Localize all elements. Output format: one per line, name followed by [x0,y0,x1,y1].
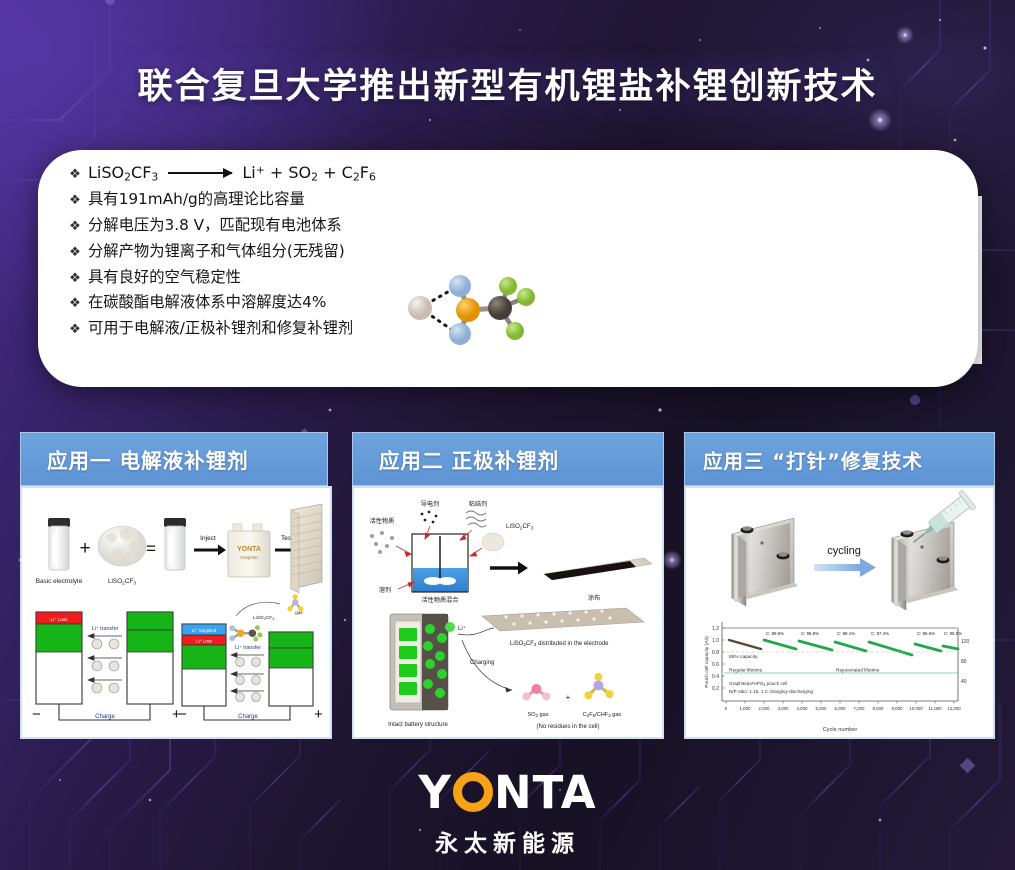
svg-text:6,000: 6,000 [835,706,847,711]
svg-text:+: + [314,706,323,723]
svg-text:活性物质混合: 活性物质混合 [421,596,458,604]
svg-text:2,000: 2,000 [759,706,771,711]
svg-text:N/P ratio: 1.15, 1 C charging–: N/P ratio: 1.15, 1 C charging–dischargin… [729,689,813,694]
atom-s [456,298,480,322]
list-item-label: 可用于电解液/正极补锂剂和修复补锂剂 [88,319,353,338]
list-item: ❖ 分解产物为锂离子和气体组分(无残留) [62,242,442,261]
mixing-beaker [412,534,468,592]
svg-text:C: 96.6%: C: 96.6% [917,631,935,636]
page-title: 联合复旦大学推出新型有机锂盐补锂创新技术 [137,58,877,109]
list-item: ❖ 在碳酸酯电解液体系中溶解度达4% [62,293,442,312]
vial-mixed-electrolyte [164,518,186,570]
svg-text:LiSO2CF3: LiSO2CF3 [253,615,274,621]
coated-electrode [544,558,652,580]
title-container: 联合复旦大学推出新型有机锂盐补锂创新技术 [0,58,1015,109]
test-rack [291,504,322,593]
svg-text:cycling: cycling [827,545,861,557]
svg-text:Pouch cell capacity (Ah): Pouch cell capacity (Ah) [704,636,710,688]
list-item-equation: ❖ LiSO2CF3 Li+ + SO2 + C2F6 [62,163,442,184]
svg-text:=: = [146,539,156,558]
svg-text:Li⁺ transfer: Li⁺ transfer [92,626,119,632]
panel-1-header: 应用一 电解液补锂剂 [20,432,328,486]
svg-text:C: 96.0%: C: 96.0% [944,631,962,636]
svg-text:+: + [79,538,90,559]
cycling-arrow-icon [814,558,876,577]
svg-text:C: 98.8%: C: 98.8% [801,631,819,636]
atom-f1 [499,277,517,295]
svg-text:9,000: 9,000 [892,706,904,711]
svg-text:活性物质: 活性物质 [370,517,395,525]
svg-text:(No residues in the cell): (No residues in the cell) [536,724,599,730]
logo-block: YNTA 永太新能源 [0,770,1015,858]
svg-text:Li⁺ Supplied: Li⁺ Supplied [192,628,217,633]
svg-text:8,000: 8,000 [873,706,885,711]
svg-text:Li⁺ transfer: Li⁺ transfer [235,645,261,651]
svg-text:粘结剂: 粘结剂 [469,500,488,508]
prismatic-cell-after [892,522,958,610]
svg-text:+: + [566,693,571,702]
svg-text:Li⁺ Loss: Li⁺ Loss [196,639,211,644]
c2f6-molecule [584,673,613,700]
inject-arrow-icon [194,545,226,556]
brand-text-part2: NTA [494,766,597,819]
list-item: ❖ 可用于电解液/正极补锂剂和修复补锂剂 [62,319,442,338]
svg-text:C: 99.6%: C: 99.6% [766,631,784,636]
panel-1-graphic: Basic electrolyte + LiSO2CF3 = Inject [22,488,330,737]
svg-text:7,000: 7,000 [854,706,866,711]
svg-text:5,000: 5,000 [816,706,828,711]
svg-text:SO2 gas: SO2 gas [527,712,548,718]
schematic-after: Li⁺ Supplied Li⁺ Loss Li⁺ transfer [178,594,323,723]
panel-2-header: 应用二 正极补锂剂 [352,432,664,486]
svg-text:涂布: 涂布 [588,594,600,602]
svg-text:−: − [32,706,41,723]
chart-pouch-cycle-life: 1.21.00.8 0.60.40.2 1208040 Pouch cell c… [704,622,970,733]
equation-products: Li+ + SO2 + C2F6 [242,163,376,184]
svg-text:C2F6/CHF3 gas: C2F6/CHF3 gas [583,712,622,718]
intact-battery [390,614,455,710]
svg-text:溶剂: 溶剂 [379,586,391,594]
process-arrow-icon [490,562,528,575]
svg-text:Li⁺: Li⁺ [458,625,466,632]
application-panel-2: 应用二 正极补锂剂 [352,432,664,739]
list-item: ❖ 分解电压为3.8 V，匹配现有电池体系 [62,216,442,235]
svg-text:Inject: Inject [200,535,216,542]
prismatic-cell-before [732,518,798,606]
svg-text:LiSO2CF3: LiSO2CF3 [506,523,534,531]
atom-o2 [449,323,471,345]
panel-3-graphic: cycling [686,488,993,737]
svg-text:85% capacity: 85% capacity [729,654,758,660]
application-panel-3: 应用三 “打针”修复技术 [684,432,995,739]
svg-text:Rejuvenated lifetime: Rejuvenated lifetime [836,668,880,674]
reaction-arrow-icon [168,172,232,174]
svg-text:Cycle number: Cycle number [823,727,858,733]
brand-tagline: 永太新能源 [0,824,1015,858]
bullet-marker-icon: ❖ [62,296,88,312]
svg-text:0.6: 0.6 [712,662,719,668]
list-item-label: 具有良好的空气稳定性 [88,268,241,287]
svg-text:Intact battery structure: Intact battery structure [388,722,448,728]
atom-f3 [506,322,524,340]
bullet-marker-icon: ❖ [62,271,88,287]
svg-text:11,000: 11,000 [928,706,942,711]
svg-text:0.2: 0.2 [712,686,719,692]
panel-2-graphic: 活性物质混合 活性物质 导电剂 粘结剂 L [354,488,662,737]
brand-o-icon [453,772,493,812]
equation-reactant: LiSO2CF3 [88,163,158,184]
svg-text:120: 120 [961,639,970,645]
pouch-cell: YONTA Graphite [228,524,270,577]
svg-text:Regular lifetime: Regular lifetime [729,668,763,674]
svg-text:LiSO2CF3: LiSO2CF3 [108,578,136,586]
svg-text:80: 80 [961,659,967,665]
highlights-list: ❖ LiSO2CF3 Li+ + SO2 + C2F6 ❖ 具有191mAh/g… [62,163,442,345]
bullet-marker-icon: ❖ [62,167,88,183]
electrode-strip [482,608,644,631]
svg-text:1,000: 1,000 [740,706,752,711]
panel-1-body: Basic electrolyte + LiSO2CF3 = Inject [20,486,332,739]
atom-o1 [449,275,471,297]
poster-root: 联合复旦大学推出新型有机锂盐补锂创新技术 ❖ LiSO2CF3 Li+ + SO… [0,0,1015,870]
list-item: ❖ 具有良好的空气稳定性 [62,268,442,287]
bullet-marker-icon: ❖ [62,219,88,235]
so2-molecule [522,684,550,700]
svg-text:−: − [178,706,187,723]
svg-text:4,000: 4,000 [797,706,809,711]
svg-text:1.0: 1.0 [712,638,719,644]
list-item-label: 分解产物为锂离子和气体组分(无残留) [88,242,345,261]
panel-2-body: 活性物质混合 活性物质 导电剂 粘结剂 L [352,486,664,739]
list-item: ❖ 具有191mAh/g的高理论比容量 [62,190,442,209]
brand-text-part1: Y [418,766,452,819]
vial-basic-electrolyte [48,518,70,570]
svg-text:Graphite|LiFePO4 pouch cell: Graphite|LiFePO4 pouch cell [729,681,787,687]
panel-3-header: 应用三 “打针”修复技术 [684,432,995,486]
schematic-before: Li⁺ Loss Li⁺ transfer [32,612,181,723]
svg-text:40: 40 [961,679,967,685]
svg-text:0: 0 [725,706,728,711]
atom-f2 [517,288,535,306]
svg-text:Charge: Charge [95,714,115,720]
svg-text:12,000: 12,000 [947,706,961,711]
molecule-diagram [398,250,538,370]
list-item-label: 具有191mAh/g的高理论比容量 [88,190,305,209]
bullet-marker-icon: ❖ [62,245,88,261]
list-item-label: 在碳酸酯电解液体系中溶解度达4% [88,293,326,312]
svg-text:Li⁺ Loss: Li⁺ Loss [51,617,69,622]
panel-3-body: cycling [684,486,995,739]
svg-text:1.2: 1.2 [712,626,719,632]
atom-c [488,296,512,320]
list-item-label: 分解电压为3.8 V，匹配现有电池体系 [88,216,342,235]
svg-text:10,000: 10,000 [909,706,923,711]
equation-row: LiSO2CF3 Li+ + SO2 + C2F6 [88,163,376,184]
bullet-marker-icon: ❖ [62,193,88,209]
svg-text:0.4: 0.4 [712,674,719,680]
brand-logo: YNTA [418,770,596,815]
atom-li [408,296,432,320]
svg-text:Graphite: Graphite [240,555,258,560]
svg-text:YONTA: YONTA [237,546,261,553]
svg-text:C: 97.4%: C: 97.4% [871,631,889,636]
svg-text:3,000: 3,000 [778,706,790,711]
bullet-marker-icon: ❖ [62,322,88,338]
svg-text:Charge: Charge [238,714,258,720]
svg-text:0.8: 0.8 [712,650,719,656]
svg-text:C: 98.1%: C: 98.1% [837,631,855,636]
svg-text:导电剂: 导电剂 [421,500,440,508]
application-panel-1: 应用一 电解液补锂剂 [20,432,332,739]
svg-text:LiSO2CF3 distributed in the el: LiSO2CF3 distributed in the electrode [510,641,609,647]
svg-text:Basic electrolyte: Basic electrolyte [36,578,83,585]
